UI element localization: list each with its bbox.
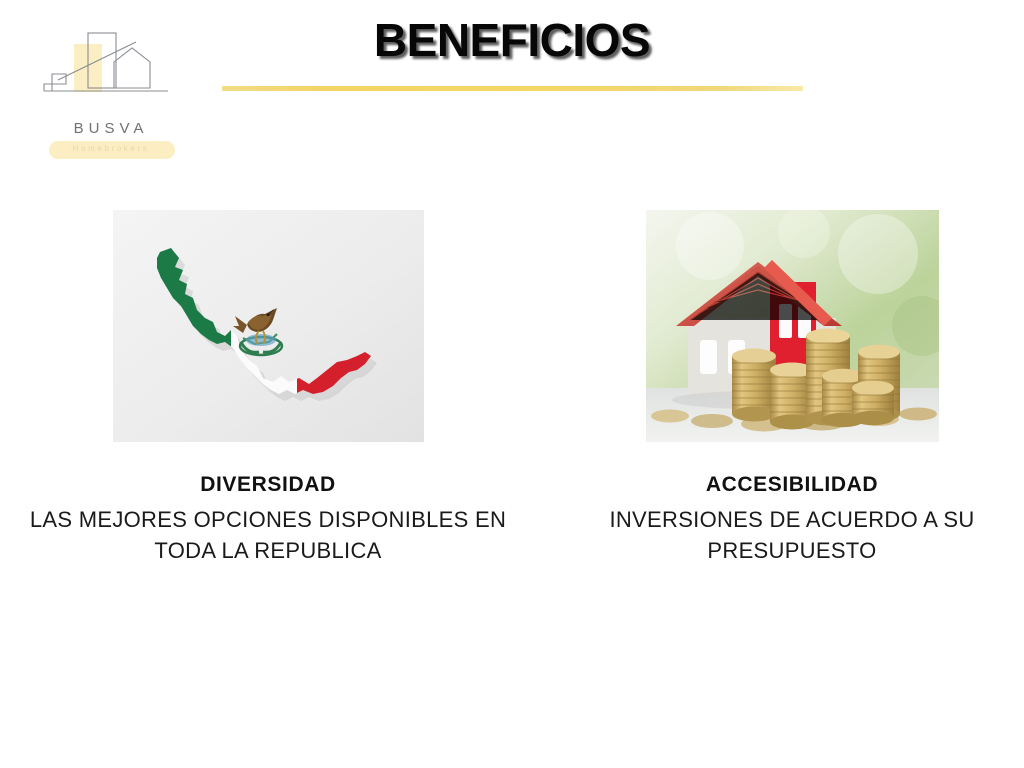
page-title: BENEFICIOS — [222, 16, 802, 64]
slide-canvas: BUSVA Homebrokers BENEFICIOS — [0, 0, 1024, 768]
busva-logo[interactable]: BUSVA Homebrokers — [36, 28, 186, 143]
caption-accesibilidad: ACCESIBILIDAD INVERSIONES DE ACUERDO A S… — [552, 472, 1024, 566]
logo-wordmark: BUSVA — [36, 120, 186, 137]
caption-body: LAS MEJORES OPCIONES DISPONIBLES EN TODA… — [18, 505, 518, 566]
building-outline-icon — [36, 28, 186, 106]
house-coins-image — [646, 210, 939, 442]
benefit-column-diversidad: DIVERSIDAD LAS MEJORES OPCIONES DISPONIB… — [18, 210, 518, 566]
logo-tagline: Homebrokers — [36, 144, 186, 153]
title-underline-rule — [222, 86, 803, 91]
caption-heading: DIVERSIDAD — [18, 472, 518, 498]
caption-heading: ACCESIBILIDAD — [552, 472, 1024, 498]
mexico-map-flag-image — [113, 210, 424, 442]
caption-diversidad: DIVERSIDAD LAS MEJORES OPCIONES DISPONIB… — [18, 472, 518, 566]
benefit-column-accesibilidad: ACCESIBILIDAD INVERSIONES DE ACUERDO A S… — [552, 210, 1024, 566]
caption-body: INVERSIONES DE ACUERDO A SU PRESUPUESTO — [552, 505, 1024, 566]
